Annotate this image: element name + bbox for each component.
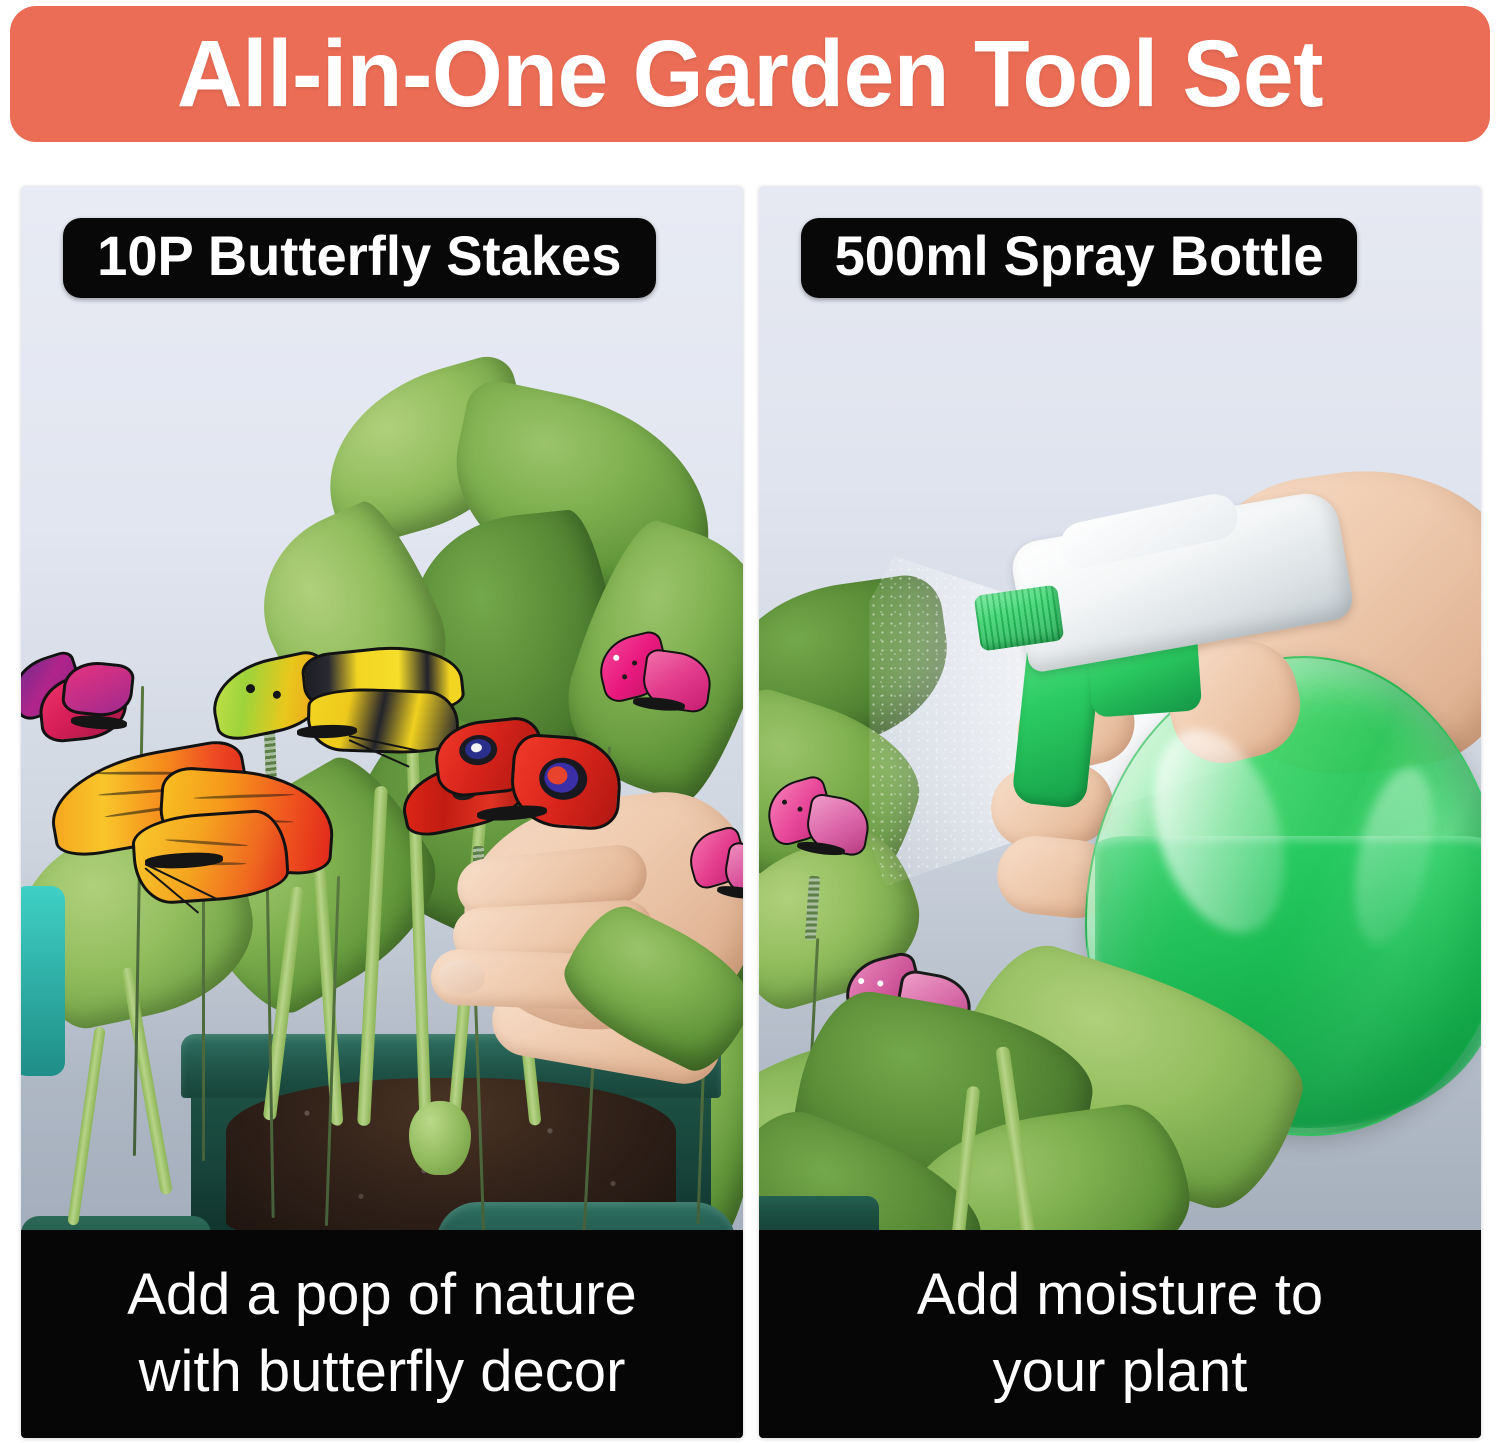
- badge-label: 500ml Spray Bottle: [835, 228, 1324, 284]
- badge-butterfly-stakes: 10P Butterfly Stakes: [63, 218, 656, 298]
- panel-spray-bottle: 500ml Spray Bottle Add moisture to your …: [759, 186, 1481, 1438]
- butterfly-stakes-photo: 10P Butterfly Stakes: [21, 186, 743, 1230]
- pot-edge: [759, 1196, 879, 1230]
- caption-butterfly-stakes: Add a pop of nature with butterfly decor: [21, 1230, 743, 1438]
- spray-nozzle: [974, 584, 1065, 651]
- plant-bud: [409, 1101, 471, 1175]
- product-infographic: All-in-One Garden Tool Set: [0, 0, 1500, 1443]
- spray-bottle-photo: 500ml Spray Bottle: [759, 186, 1481, 1230]
- plant-stem: [67, 1026, 106, 1226]
- badge-label: 10P Butterfly Stakes: [97, 228, 621, 284]
- butterfly-stake-pink: [767, 781, 877, 881]
- page-title: All-in-One Garden Tool Set: [177, 27, 1323, 122]
- butterfly-body: [716, 884, 743, 901]
- caption-line-1: Add a pop of nature: [127, 1257, 637, 1334]
- butterfly-stake-red-peacock: [393, 714, 618, 859]
- header-banner: All-in-One Garden Tool Set: [10, 6, 1490, 142]
- caption-line-1: Add moisture to: [917, 1257, 1323, 1334]
- panel-row: 10P Butterfly Stakes Add a pop of nature…: [0, 186, 1500, 1438]
- panel-butterfly-stakes: 10P Butterfly Stakes Add a pop of nature…: [21, 186, 743, 1438]
- badge-spray-bottle: 500ml Spray Bottle: [801, 218, 1357, 298]
- pot-edge: [21, 1216, 211, 1230]
- caption-spray-bottle: Add moisture to your plant: [759, 1230, 1481, 1438]
- butterfly-stake-small-pink: [689, 831, 743, 923]
- caption-line-2: your plant: [993, 1334, 1248, 1411]
- caption-line-2: with butterfly decor: [139, 1334, 626, 1411]
